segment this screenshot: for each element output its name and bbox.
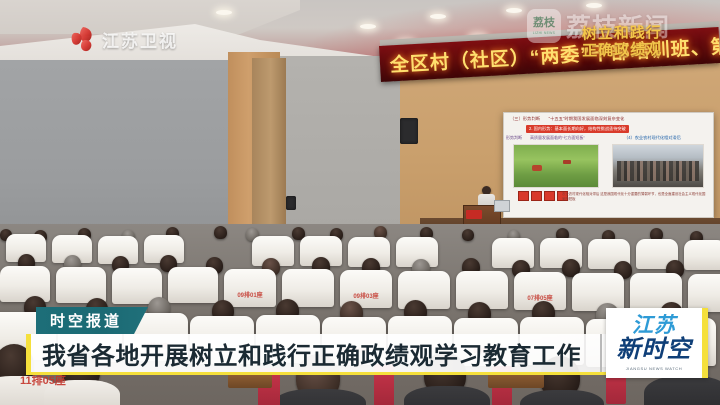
slide-subtitle-left: 形势判断 高质量发展面临的“七方面短板” [506, 135, 585, 141]
lizhi-badge-cn: 荔枝 [533, 18, 555, 29]
desk-surface [228, 374, 272, 388]
downlight [430, 14, 446, 19]
lower-third-headline-bar: 我省各地开展树立和践行正确政绩观学习教育工作 [26, 334, 611, 375]
projection-screen: （三）形势判断 “十五五”时期我国发展面临深刻复杂变化 2. 国内形势：基本面长… [503, 112, 714, 218]
downlight [506, 8, 522, 13]
lower-third-headline-text: 我省各地开展树立和践行正确政绩观学习教育工作 [31, 336, 581, 371]
broadcast-frame: 全区村（社区）“两委”干部培训班、第五期 （三）形势判断 “十五五”时期我国发展… [0, 0, 720, 405]
lower-third-kicker: 时空报道 [36, 307, 148, 334]
wall-speaker [286, 196, 296, 210]
slide-tag-blocks [518, 191, 568, 201]
lower-third-kicker-text: 时空报道 [50, 310, 122, 331]
channel-logo-bug: 江苏卫视 [68, 24, 178, 54]
lower-third-divider [600, 334, 602, 372]
program-logo: 江苏 新时空 JIANGSU NEWS WATCH [606, 308, 708, 378]
gold-slogan-overlay: 树立和践行 正确政绩观 [582, 25, 663, 60]
slide-footer-text: 农业农村现代化相对滞后 这是我国现代化十分重要的薄弱环节，也是全面建设社会主义现… [562, 192, 707, 202]
program-logo-line3: JIANGSU NEWS WATCH [626, 366, 683, 371]
slide-title: （三）形势判断 “十五五”时期我国发展面临深刻复杂变化 [510, 116, 709, 122]
lizhi-badge-en: LIZHI NEWS [533, 31, 555, 35]
audience-chair [684, 240, 720, 270]
audience-chair: 09排01座 [224, 269, 276, 307]
audience-head [214, 226, 227, 239]
audience-shoulder [644, 376, 720, 405]
seat-label: 09排03座 [353, 291, 378, 300]
gold-slogan-line2: 正确政绩观 [582, 42, 662, 60]
downlight [360, 24, 376, 29]
wall-speaker [400, 118, 418, 144]
jiangsu-tv-swirl-icon [68, 24, 98, 54]
audience-shoulder [274, 389, 366, 405]
slide-subtitle-right: （4）农业农村现代化相对滞后 [624, 135, 681, 141]
program-logo-line1: 江苏 [632, 315, 676, 336]
slide-photo-field [513, 144, 599, 188]
slide-photo-crowd [612, 144, 704, 188]
audience-head [462, 229, 474, 241]
program-logo-line2: 新时空 [617, 337, 692, 362]
audience-chair [688, 274, 720, 312]
audience-chair [168, 267, 218, 303]
audience-chair [572, 273, 624, 311]
channel-name: 江苏卫视 [102, 27, 178, 52]
downlight [216, 10, 232, 15]
slide-highlight: 2. 国内形势：基本面长期向好，结构性挑战亟待突破 [526, 125, 629, 133]
audience-shoulder [520, 390, 604, 405]
laptop [494, 200, 510, 212]
lizhi-badge-icon: 荔枝 LIZHI NEWS [527, 9, 561, 43]
audience-chair [0, 266, 50, 302]
podium-nameplate [466, 210, 482, 219]
audience-shoulder [404, 386, 490, 405]
seat-label: 09排01座 [237, 290, 262, 299]
